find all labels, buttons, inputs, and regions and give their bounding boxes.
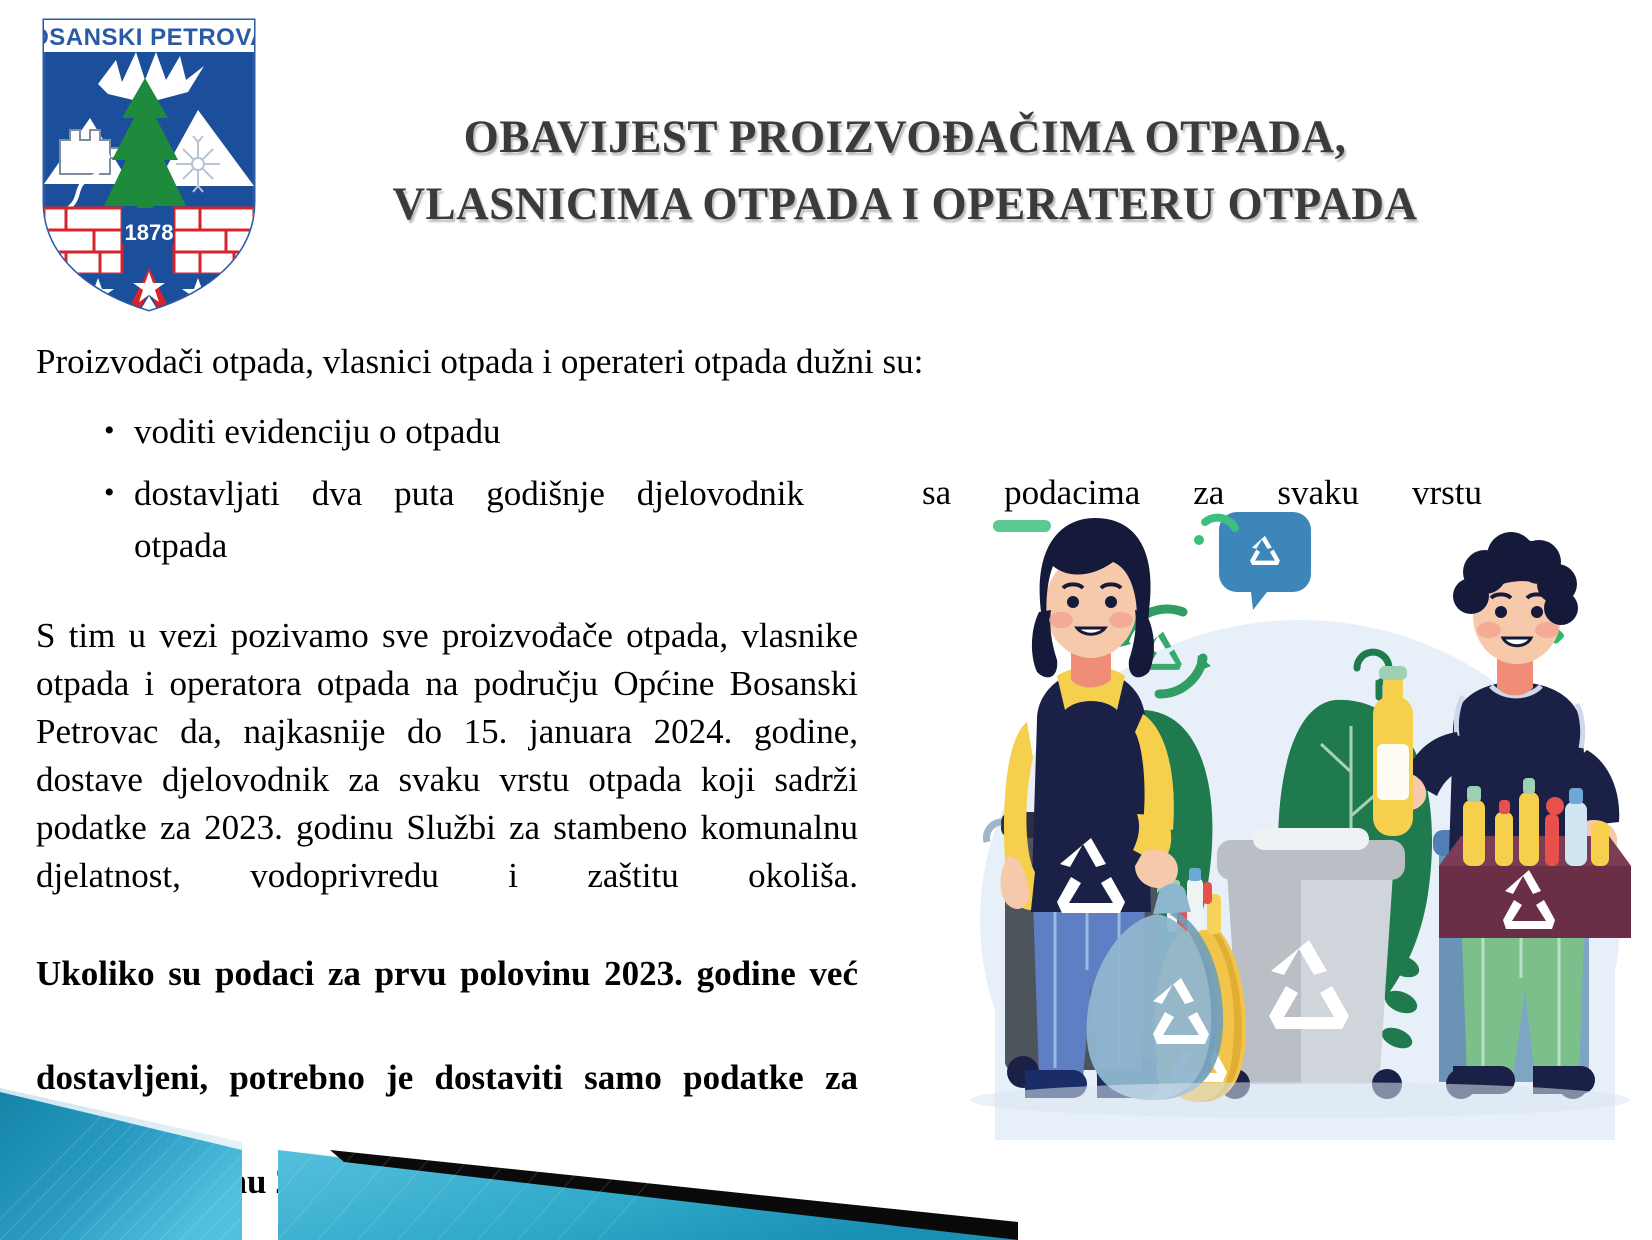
bullet-icon: •: [104, 468, 134, 518]
list-item: • voditi evidenciju o otpadu: [104, 406, 804, 458]
page-title-line-1: OBAVIJEST PROIZVOĐAČIMA OTPADA,: [324, 104, 1486, 171]
intro-paragraph: Proizvodači otpada, vlasnici otpada i op…: [36, 340, 1156, 384]
crest-year: 1878: [125, 220, 174, 245]
crest-banner-text: BOSANSKI PETROVAC: [38, 24, 260, 51]
page-title: OBAVIJEST PROIZVOĐAČIMA OTPADA, VLASNICI…: [324, 104, 1486, 238]
duties-list: • voditi evidenciju o otpadu • dostavlja…: [104, 406, 804, 634]
list-item-label: voditi evidenciju o otpadu: [134, 406, 804, 458]
page-title-line-2: VLASNICIMA OTPADA I OPERATERU OTPADA: [324, 171, 1486, 238]
decoration-blue-block-left: [0, 1086, 242, 1240]
list-item: • dostavljati dva puta godišnje djelovod…: [104, 468, 804, 624]
paragraph-normal-text: S tim u vezi pozivamo sve proizvođače ot…: [36, 612, 858, 948]
coat-of-arms: BOSANSKI PETROVAC: [38, 14, 260, 314]
recycling-illustration: [905, 500, 1635, 1140]
grey-wheelie-bin: [1217, 828, 1405, 1099]
paragraph-bold-line-1: Ukoliko su podaci za prvu polovinu 2023.…: [36, 948, 858, 1052]
decoration-blue-black-band: [278, 1146, 1018, 1240]
list-item-label: dostavljati dva puta godišnje djelovodni…: [134, 468, 804, 624]
bullet-icon: •: [104, 406, 134, 456]
poster-page: BOSANSKI PETROVAC: [0, 0, 1652, 1240]
